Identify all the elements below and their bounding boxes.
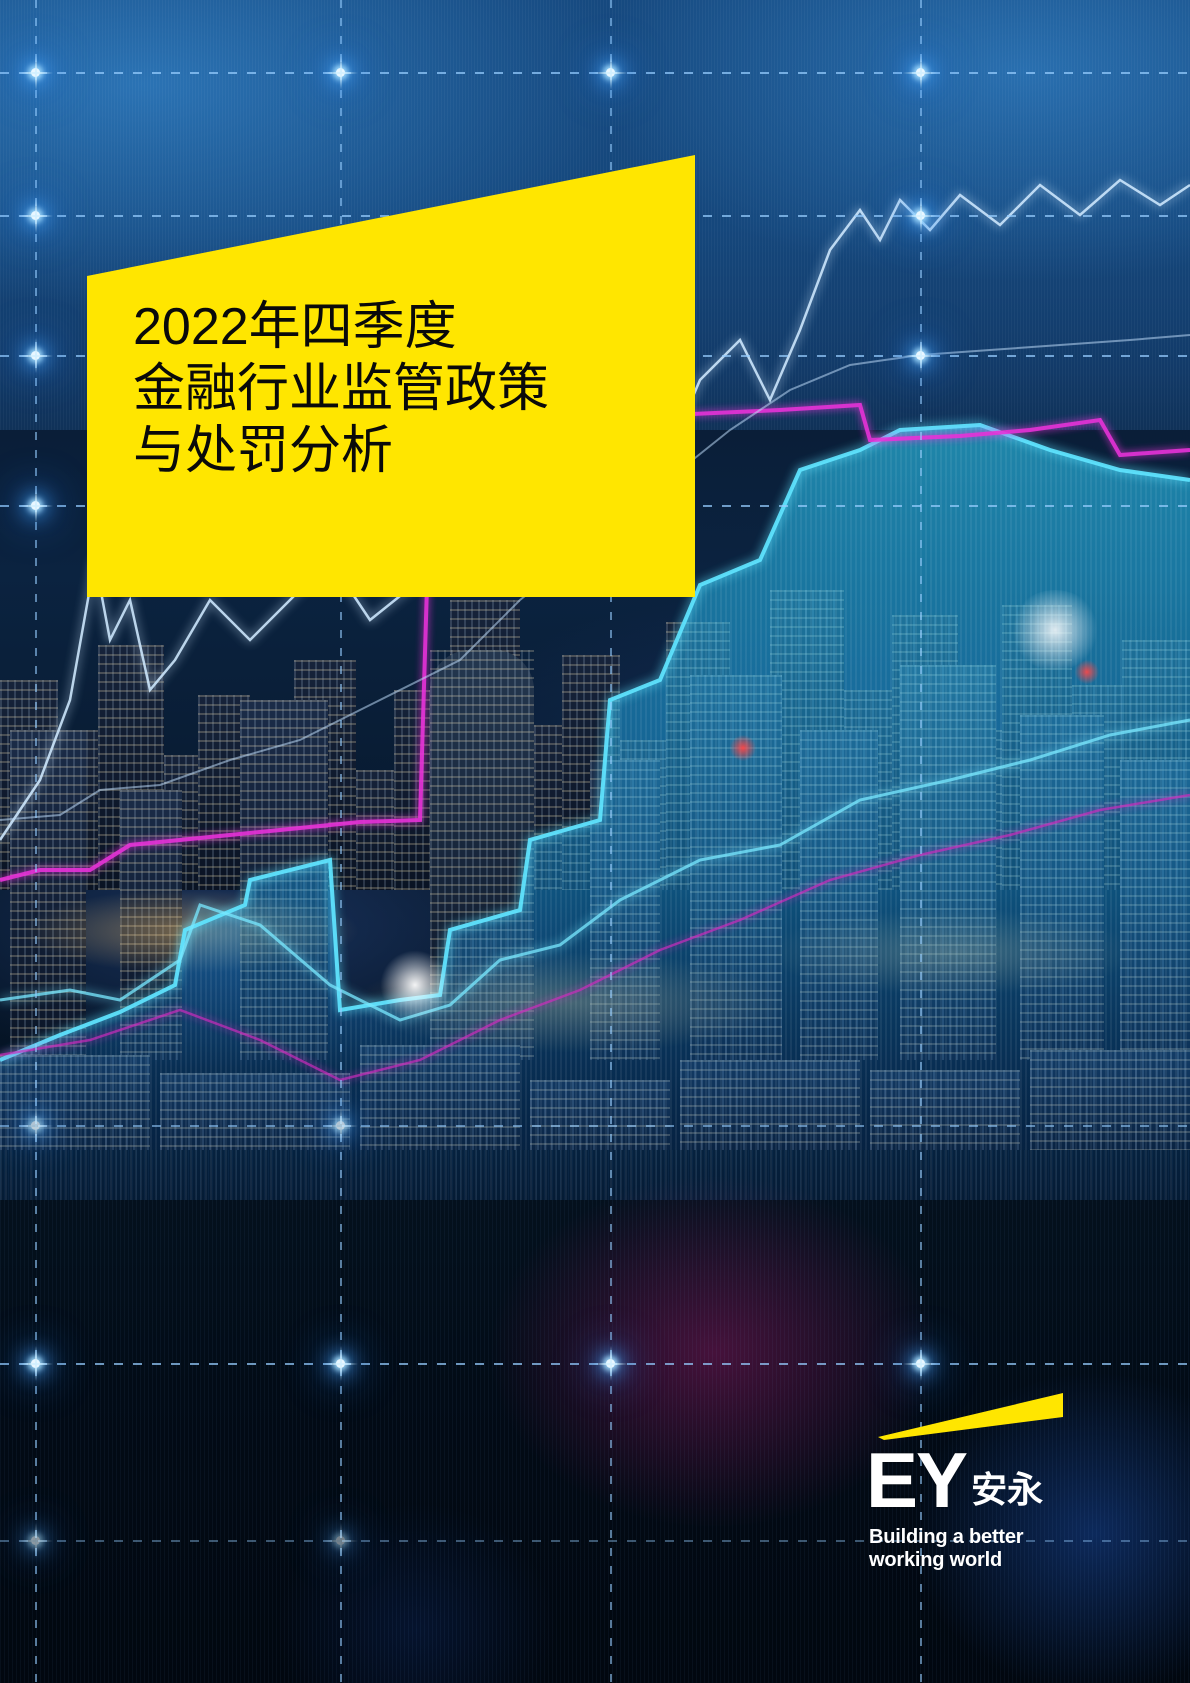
red-beacon-light [1075, 660, 1099, 684]
ey-logo: EY 安永 Building a better working world [866, 1393, 1166, 1572]
waterfront-buildings [0, 1000, 1190, 1165]
cover-title-line-1: 2022年四季度 [133, 296, 673, 358]
ey-tagline: Building a better working world [869, 1526, 1166, 1572]
light-flare [1010, 590, 1100, 670]
skyline-mid [0, 600, 1190, 1060]
report-cover-page: 2022年四季度 金融行业监管政策 与处罚分析 EY 安永 Building a… [0, 0, 1190, 1683]
cover-title: 2022年四季度 金融行业监管政策 与处罚分析 [133, 296, 673, 482]
ey-tagline-line-2: working world [869, 1549, 1166, 1572]
ey-tagline-line-1: Building a better [869, 1526, 1166, 1549]
light-flare [380, 950, 450, 1020]
cover-title-line-3: 与处罚分析 [133, 420, 673, 482]
ey-wordmark: EY [866, 1443, 966, 1517]
red-beacon-light [730, 735, 756, 761]
cover-title-line-2: 金融行业监管政策 [133, 358, 673, 420]
ey-wordmark-row: EY 安永 [866, 1443, 1166, 1517]
ey-beam-icon [878, 1393, 1063, 1441]
ey-wordmark-chinese: 安永 [971, 1470, 1043, 1512]
